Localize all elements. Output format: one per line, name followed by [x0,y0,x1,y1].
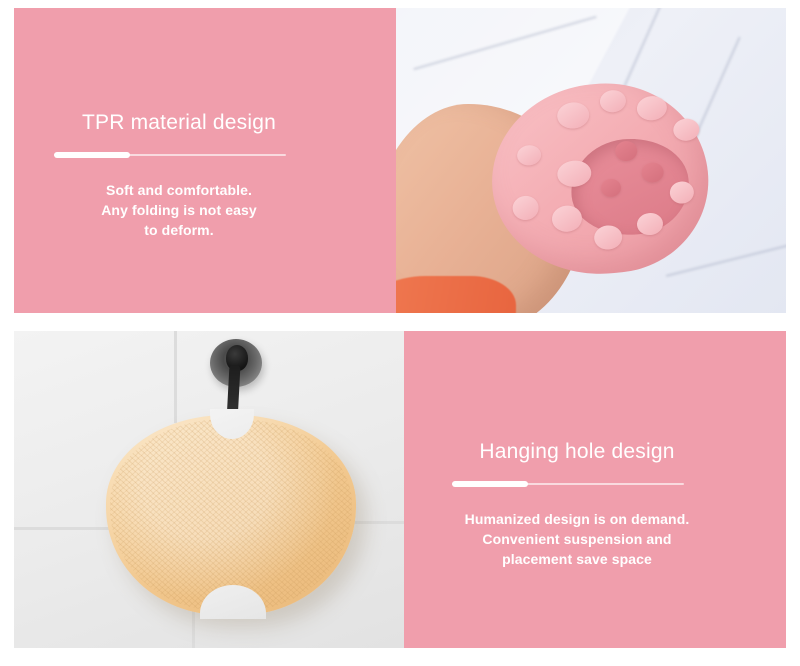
body-line: Humanized design is on demand. [452,509,702,529]
copy-block: Hanging hole design Humanized design is … [452,439,702,569]
tile-grout-line [413,16,596,70]
feature-section-tpr-material: TPR material design Soft and comfortable… [14,8,786,313]
photo-brush-hanging-on-wall-hook [14,331,404,648]
section-title: Hanging hole design [452,439,702,465]
body-line: Soft and comfortable. [54,180,304,200]
photo-hand-holding-folded-pink-brush [396,8,786,313]
section-body: Humanized design is on demand. Convenien… [452,509,702,569]
body-line: placement save space [452,549,702,569]
divider-thick-segment [54,152,130,158]
tile-grout-line [174,331,177,423]
copy-block: TPR material design Soft and comfortable… [54,110,304,240]
brush-nub [556,101,591,130]
sleeve [396,276,516,313]
text-panel-tpr-material: TPR material design Soft and comfortable… [14,8,396,313]
body-line: Any folding is not easy [54,200,304,220]
feature-section-hanging-hole: Hanging hole design Humanized design is … [14,331,786,648]
body-line: to deform. [54,220,304,240]
product-feature-infographic: TPR material design Soft and comfortable… [0,0,800,666]
section-body: Soft and comfortable. Any folding is not… [54,180,304,240]
brush-nub [516,144,542,166]
tile-grout-line [666,241,786,277]
text-panel-hanging-hole: Hanging hole design Humanized design is … [404,331,786,648]
section-title: TPR material design [54,110,304,136]
tiled-wall-background [14,331,404,648]
brush-nub [672,117,700,142]
title-divider [54,152,286,158]
brush-nub [511,195,539,222]
divider-thick-segment [452,481,528,487]
title-divider [452,481,684,487]
bathroom-tile-background [396,8,786,313]
tile-grout-line [14,527,118,530]
body-line: Convenient suspension and [452,529,702,549]
brush-nub [599,89,627,114]
brush-nub [636,95,668,122]
